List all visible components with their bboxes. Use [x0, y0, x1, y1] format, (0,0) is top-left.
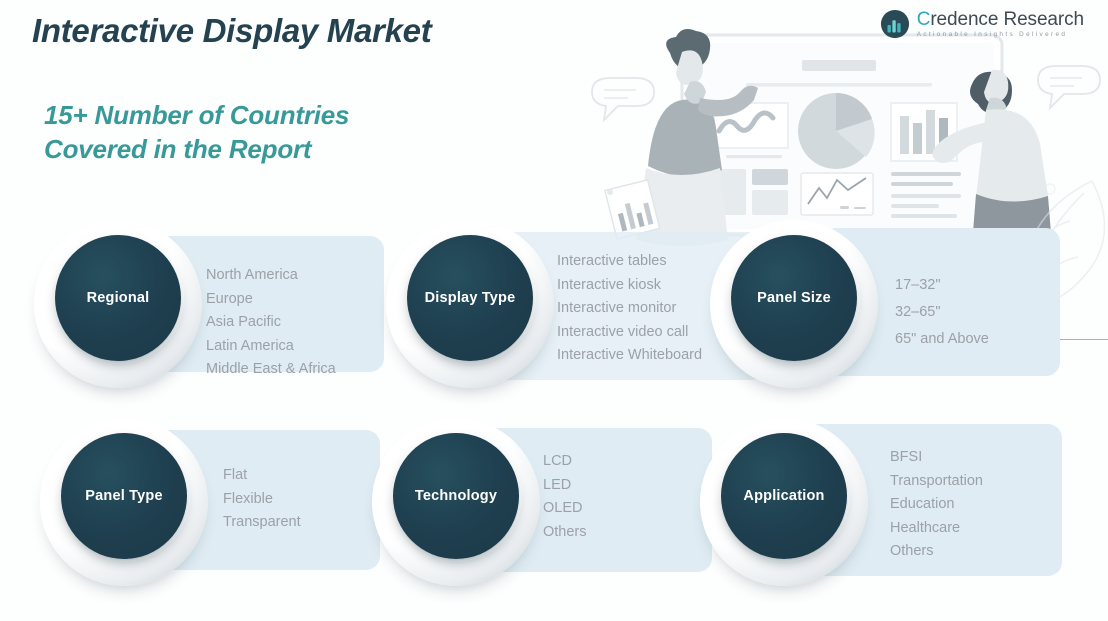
list-item: LCD [543, 450, 587, 474]
bar-chart-circle-icon [880, 9, 910, 39]
segment-disc-panel-type[interactable]: Panel Type [61, 433, 187, 559]
list-item: Latin America [206, 335, 336, 359]
credence-research-logo[interactable]: Credence Research Actionable Insights De… [880, 9, 1084, 39]
segment-node-panel-size[interactable]: Panel Size [710, 220, 878, 388]
logo-name-rest: redence Research [930, 9, 1084, 30]
speech-bubble-left [592, 78, 654, 120]
segment-disc-display-type[interactable]: Display Type [407, 235, 533, 361]
list-item: Education [890, 493, 983, 517]
list-item: Europe [206, 288, 336, 312]
segment-items-panel-size: 17–32" 32–65" 65" and Above [895, 272, 989, 353]
segment-node-regional[interactable]: Regional [34, 220, 202, 388]
segment-group-panel-type[interactable]: Panel Type Flat Flexible Transparent [40, 404, 380, 594]
segment-items-application: BFSI Transportation Education Healthcare… [890, 446, 983, 564]
list-item: Asia Pacific [206, 311, 336, 335]
segment-row-1: Regional North America Europe Asia Pacif… [0, 206, 1108, 396]
logo-tagline: Actionable Insights Delivered [917, 32, 1084, 38]
list-item: Others [890, 540, 983, 564]
segment-items-panel-type: Flat Flexible Transparent [223, 464, 301, 535]
list-item: Flat [223, 464, 301, 488]
speech-bubble-right [1038, 66, 1100, 108]
segment-group-regional[interactable]: Regional North America Europe Asia Pacif… [34, 206, 384, 396]
segment-group-technology[interactable]: Technology LCD LED OLED Others [372, 404, 712, 594]
list-item: Interactive monitor [557, 297, 702, 321]
list-item: 32–65" [895, 299, 989, 326]
segment-disc-panel-size[interactable]: Panel Size [731, 235, 857, 361]
list-item: 65" and Above [895, 326, 989, 353]
segment-label-technology: Technology [409, 488, 503, 505]
segment-label-application: Application [737, 488, 830, 505]
segment-disc-regional[interactable]: Regional [55, 235, 181, 361]
segment-node-panel-type[interactable]: Panel Type [40, 418, 208, 586]
list-item: North America [206, 264, 336, 288]
segment-disc-application[interactable]: Application [721, 433, 847, 559]
list-item: BFSI [890, 446, 983, 470]
list-item: Interactive Whiteboard [557, 344, 702, 368]
list-item: Flexible [223, 488, 301, 512]
segment-disc-technology[interactable]: Technology [393, 433, 519, 559]
segment-label-display-type: Display Type [419, 290, 522, 307]
segment-items-regional: North America Europe Asia Pacific Latin … [206, 264, 336, 382]
logo-name: Credence Research [917, 10, 1084, 29]
segment-node-technology[interactable]: Technology [372, 418, 540, 586]
segment-group-panel-size[interactable]: Panel Size 17–32" 32–65" 65" and Above [700, 206, 1060, 396]
page-subtitle: 15+ Number of Countries Covered in the R… [44, 98, 349, 167]
logo-name-accent: C [917, 9, 931, 30]
segment-node-display-type[interactable]: Display Type [386, 220, 554, 388]
list-item: Healthcare [890, 517, 983, 541]
list-item: OLED [543, 497, 587, 521]
segment-node-application[interactable]: Application [700, 418, 868, 586]
subtitle-line-2: Covered in the Report [44, 132, 349, 166]
list-item: Middle East & Africa [206, 358, 336, 382]
segment-label-regional: Regional [81, 290, 156, 307]
segment-items-technology: LCD LED OLED Others [543, 450, 587, 544]
list-item: Interactive tables [557, 250, 702, 274]
list-item: Interactive video call [557, 321, 702, 345]
list-item: Transportation [890, 470, 983, 494]
segment-items-display-type: Interactive tables Interactive kiosk Int… [557, 250, 702, 368]
list-item: Transparent [223, 511, 301, 535]
list-item: Interactive kiosk [557, 274, 702, 298]
segment-group-application[interactable]: Application BFSI Transportation Educatio… [700, 404, 1062, 594]
page-title: Interactive Display Market [32, 12, 431, 50]
subtitle-line-1: 15+ Number of Countries [44, 100, 349, 130]
list-item: Others [543, 521, 587, 545]
segment-label-panel-type: Panel Type [79, 488, 168, 505]
segment-row-2: Panel Type Flat Flexible Transparent Tec… [0, 404, 1108, 594]
list-item: 17–32" [895, 272, 989, 299]
list-item: LED [543, 474, 587, 498]
infographic-canvas: Interactive Display Market 15+ Number of… [0, 0, 1108, 621]
segment-label-panel-size: Panel Size [751, 290, 837, 307]
